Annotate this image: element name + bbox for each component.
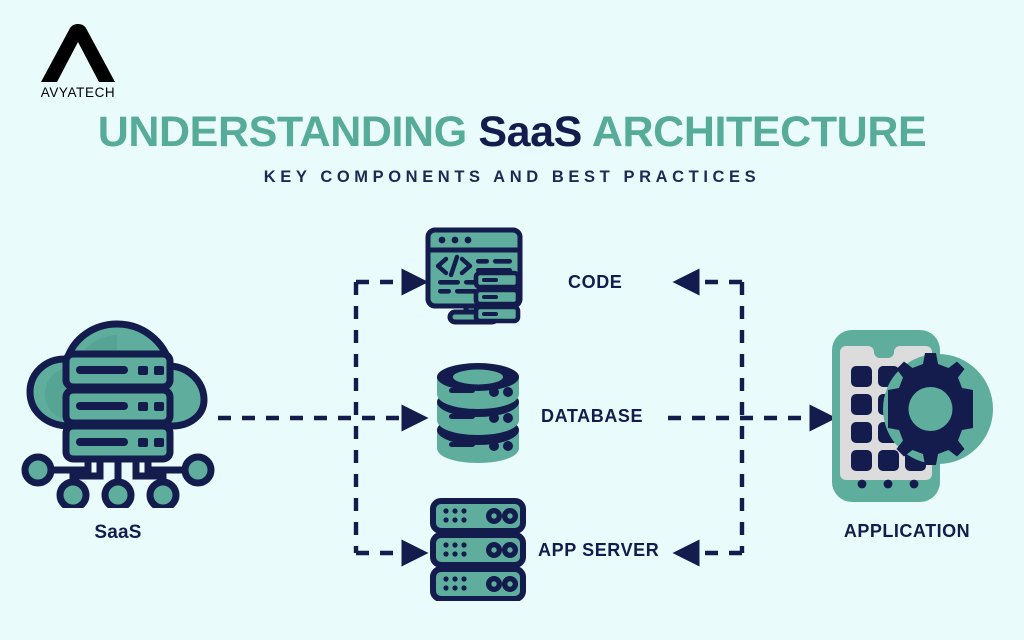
node-database-label: DATABASE (541, 406, 643, 427)
node-application[interactable] (828, 326, 996, 511)
brand-name: AVYATECH (18, 85, 138, 100)
node-code-label: CODE (568, 272, 622, 293)
title-highlight-saas: SaaS (478, 108, 582, 156)
code-monitor-icon (424, 226, 524, 328)
node-database[interactable] (431, 362, 525, 471)
node-saas[interactable] (18, 318, 218, 513)
title-part-2: ARCHITECTURE (582, 108, 926, 156)
title-part-1: UNDERSTANDING (98, 108, 479, 156)
cloud-server-network-icon (18, 318, 218, 508)
lambda-logo-icon (39, 22, 117, 84)
node-appserver[interactable] (428, 497, 528, 606)
diagram-canvas: AVYATECH UNDERSTANDING SaaS ARCHITECTURE… (0, 0, 1024, 640)
node-code[interactable] (424, 226, 524, 333)
mobile-app-gear-icon (828, 326, 996, 506)
brand-logo: AVYATECH (18, 22, 138, 100)
app-server-rack-icon (428, 497, 528, 601)
database-stack-icon (431, 362, 525, 466)
page-title: UNDERSTANDING SaaS ARCHITECTURE (0, 108, 1024, 157)
node-application-label: APPLICATION (790, 521, 1024, 542)
node-appserver-label: APP SERVER (538, 540, 659, 561)
page-subtitle: KEY COMPONENTS AND BEST PRACTICES (0, 168, 1024, 187)
node-saas-label: SaaS (0, 522, 236, 544)
